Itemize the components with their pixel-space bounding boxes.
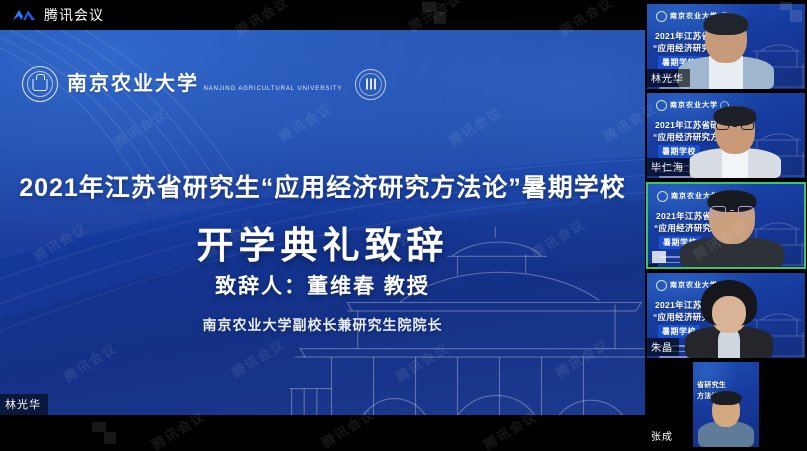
participant-video-3: 南京农业大学 2021年江苏省研究生 “应用经济研究方法论” 暑期学校 [648, 184, 804, 267]
tencent-meeting-window: 腾讯会议 [0, 0, 807, 451]
participant-video-strip: 南京农业大学 2021年江苏省研究生 “应用经济研究方法论” 暑期学校 [645, 0, 807, 451]
slide-speaker: 致辞人：董维春 教授 [0, 270, 645, 300]
participant-video-5-inner: 省研究生 方法论 [693, 362, 759, 447]
corner-logo-mark-icon [90, 420, 124, 446]
slide-title: 2021年江苏省研究生“应用经济研究方法论”暑期学校 [0, 168, 645, 204]
screen-share-indicator-icon [652, 251, 666, 263]
participant-tile-2[interactable]: 南京农业大学 2021年江苏省研究生 “应用经济研究方法论” 暑期学校 [647, 93, 805, 178]
university-name-cn: 南京农业大学 [67, 73, 199, 95]
slide-heading: 开学典礼致辞 [0, 215, 645, 269]
slide-affiliation: 南京农业大学副校长兼研究生院院长 [0, 315, 645, 335]
slide-university-header: 南京农业大学 NANJING AGRICULTURAL UNIVERSITY [22, 66, 386, 102]
participant-name-4: 朱晶 [647, 338, 679, 356]
presentation-slide: 南京农业大学 NANJING AGRICULTURAL UNIVERSITY 2… [0, 30, 645, 415]
app-title: 腾讯会议 [44, 8, 104, 22]
participant-tile-3[interactable]: 南京农业大学 2021年江苏省研究生 “应用经济研究方法论” 暑期学校 [646, 182, 806, 269]
participant-tile-5[interactable]: 省研究生 方法论 张成 [647, 362, 805, 447]
participant-person-3 [653, 184, 804, 267]
participant-tile-4[interactable]: 南京农业大学 2021年江苏省研究生 “应用经济研究方法论” 暑期学校 [647, 273, 805, 358]
university-name-block: 南京农业大学 NANJING AGRICULTURAL UNIVERSITY [67, 74, 342, 95]
participant-name-1: 林光华 [647, 69, 690, 87]
glasses-icon [716, 122, 754, 130]
participant-tile-1[interactable]: 南京农业大学 2021年江苏省研究生 “应用经济研究方法论” 暑期学校 [647, 4, 805, 89]
anniversary-seal-icon [355, 69, 386, 100]
participant-name-3 [648, 264, 658, 267]
participant-name-2: 毕仁海 [647, 158, 690, 176]
presenter-name-badge: 林光华 [0, 394, 48, 415]
university-name-en: NANJING AGRICULTURAL UNIVERSITY [203, 86, 342, 92]
participant-person-5 [693, 362, 759, 447]
university-seal-icon [22, 66, 58, 102]
tencent-meeting-logo-icon [12, 7, 36, 23]
shared-screen-region[interactable]: 南京农业大学 NANJING AGRICULTURAL UNIVERSITY 2… [0, 30, 645, 415]
participant-name-5: 张成 [647, 427, 679, 445]
glasses-icon [711, 206, 753, 215]
app-titlebar: 腾讯会议 [0, 0, 645, 30]
